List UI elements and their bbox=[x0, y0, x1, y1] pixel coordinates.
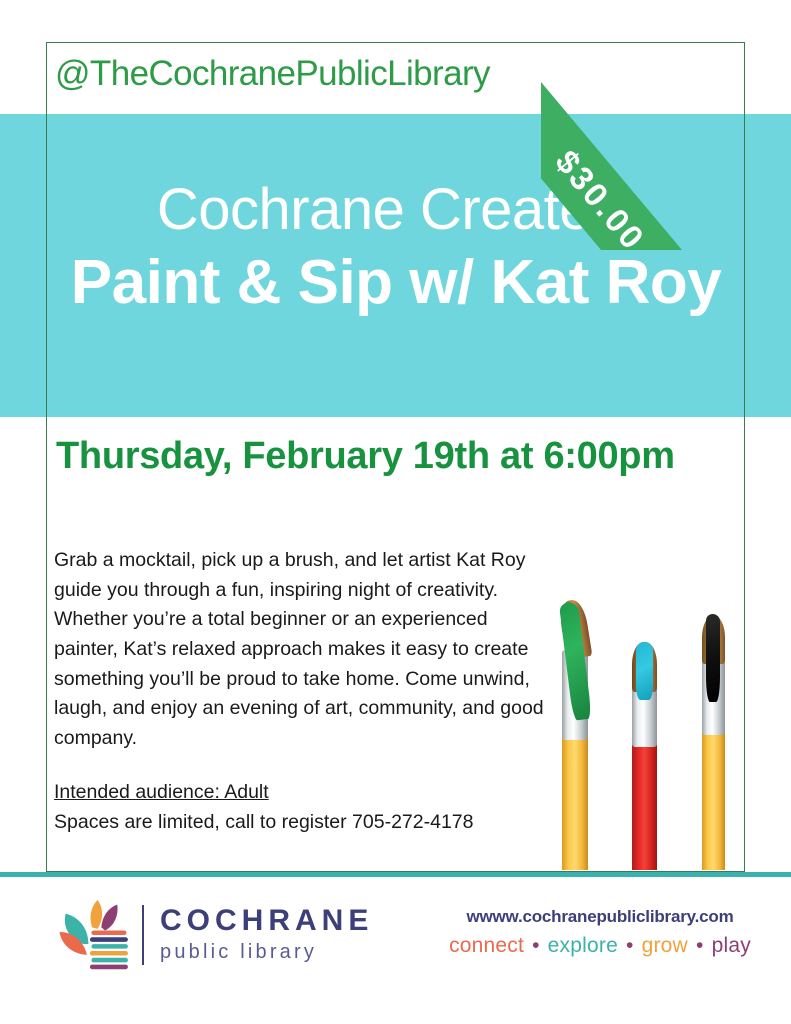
price-ribbon-label: $30.00 bbox=[547, 143, 653, 250]
tagline-word-play: play bbox=[712, 934, 751, 957]
price-ribbon-band: $30.00 bbox=[541, 20, 759, 250]
registration-info: Spaces are limited, call to register 705… bbox=[54, 808, 554, 838]
website-and-tagline: wwww.cochranepubliclibrary.com connect •… bbox=[440, 907, 760, 958]
brush-handle bbox=[632, 742, 657, 870]
logo-divider-rule bbox=[142, 905, 144, 965]
poster-canvas: @TheCochranePublicLibrary $30.00 Cochran… bbox=[0, 0, 791, 1024]
event-description-text: Grab a mocktail, pick up a brush, and le… bbox=[54, 546, 554, 753]
paintbrush-cyan-icon bbox=[632, 632, 657, 870]
brush-paint-cyan bbox=[636, 642, 653, 700]
tagline-word-grow: grow bbox=[642, 934, 688, 957]
footer: COCHRANE public library wwww.cochranepub… bbox=[0, 877, 791, 1024]
paintbrush-photo bbox=[558, 592, 748, 870]
intended-audience: Intended audience: Adult bbox=[54, 778, 269, 808]
event-datetime: Thursday, February 19th at 6:00pm bbox=[56, 435, 675, 478]
website-url[interactable]: wwww.cochranepubliclibrary.com bbox=[440, 907, 760, 927]
brush-paint-black bbox=[706, 614, 720, 702]
tagline: connect • explore • grow • play bbox=[440, 934, 760, 958]
social-handle: @TheCochranePublicLibrary bbox=[55, 54, 490, 94]
tagline-separator: • bbox=[626, 934, 634, 957]
tagline-word-connect: connect bbox=[449, 934, 524, 957]
audience-and-registration: Intended audience: Adult Spaces are limi… bbox=[54, 778, 554, 837]
paintbrush-green-icon bbox=[562, 592, 588, 870]
event-description: Grab a mocktail, pick up a brush, and le… bbox=[54, 546, 554, 753]
leaf-book-logo-icon bbox=[58, 897, 134, 973]
tagline-word-explore: explore bbox=[548, 934, 618, 957]
logo-name: COCHRANE bbox=[160, 905, 373, 937]
brush-handle bbox=[702, 730, 725, 870]
tagline-separator: • bbox=[532, 934, 540, 957]
logo-subtitle: public library bbox=[160, 940, 373, 965]
logo-wordmark: COCHRANE public library bbox=[160, 905, 373, 965]
library-logo: COCHRANE public library bbox=[58, 897, 373, 973]
tagline-separator: • bbox=[696, 934, 704, 957]
brush-handle bbox=[562, 735, 588, 870]
price-ribbon: $30.00 bbox=[541, 0, 791, 250]
paintbrush-black-icon bbox=[702, 612, 725, 870]
event-title: Paint & Sip w/ Kat Roy bbox=[56, 249, 736, 317]
